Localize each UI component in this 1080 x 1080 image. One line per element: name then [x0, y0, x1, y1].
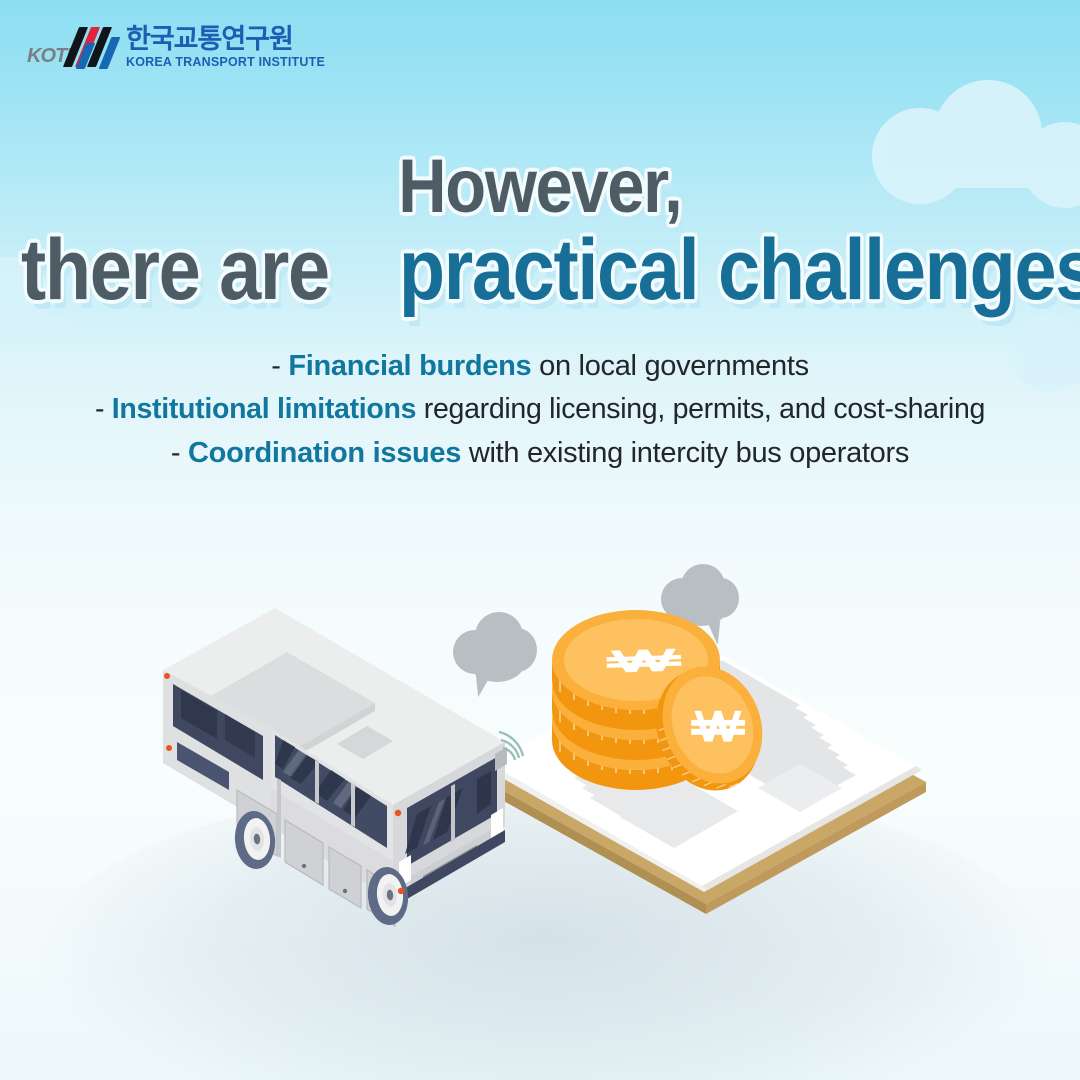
headline-line-2-accent: practical challenges. — [399, 228, 1080, 312]
bullet-item-2: - Institutional limitations regarding li… — [0, 388, 1080, 431]
poster-card: KOTI 한국교통연구원 KOREA TRANSPORT INSTITUTE H… — [0, 0, 1080, 1080]
bullet-bold-2: Institutional limitations — [112, 393, 416, 425]
won-coin-stack — [540, 612, 800, 822]
koti-logo-mark-icon: KOTI — [27, 27, 119, 71]
bullet-dash-3: - — [171, 437, 188, 469]
logo-name-english: KOREA TRANSPORT INSTITUTE — [126, 56, 325, 69]
koti-logo[interactable]: KOTI 한국교통연구원 KOREA TRANSPORT INSTITUTE — [27, 26, 325, 71]
bullet-dash-1: - — [271, 350, 288, 382]
bullet-dash-2: - — [95, 393, 112, 425]
bullet-item-3: - Coordination issues with existing inte… — [0, 431, 1080, 475]
headline-line-2-plain: there are — [21, 228, 329, 312]
bullet-item-1: - Financial burdens on local governments — [0, 344, 1080, 388]
bullet-rest-3: with existing intercity bus operators — [461, 437, 909, 469]
bullet-bold-3: Coordination issues — [188, 437, 461, 469]
headline: However, there are practical challenges. — [0, 150, 1080, 313]
bullet-list: - Financial burdens on local governments… — [0, 344, 1080, 475]
illustration-scene — [0, 540, 1080, 1080]
logo-name-korean: 한국교통연구원 — [126, 26, 325, 53]
bullet-bold-1: Financial burdens — [288, 350, 531, 382]
bullet-rest-1: on local governments — [531, 350, 808, 382]
bullet-rest-2: regarding licensing, permits, and cost-s… — [416, 393, 985, 425]
headline-line-1: However, — [398, 150, 681, 224]
intercity-bus — [155, 608, 575, 938]
